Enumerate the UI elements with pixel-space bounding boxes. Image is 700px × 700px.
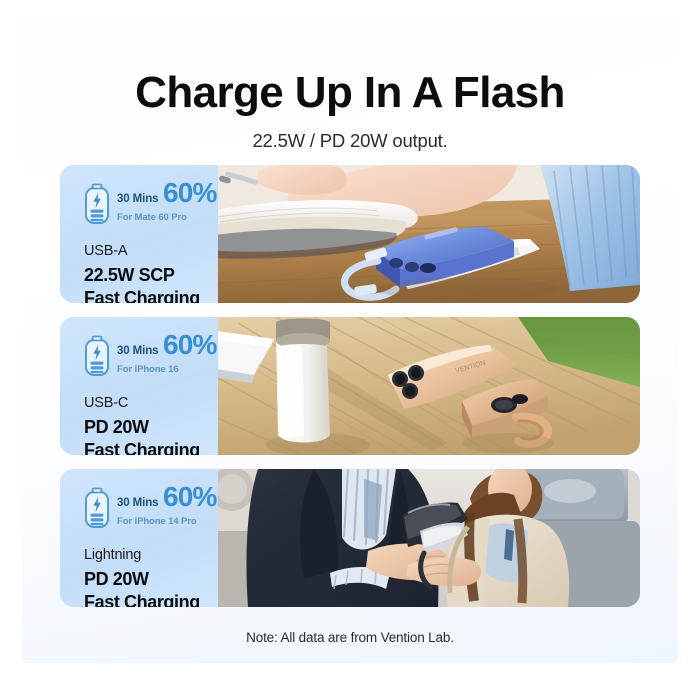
charge-percentage: 60%: [163, 177, 217, 208]
battery-stat-text: 30 Mins 60% For iPhone 16: [117, 331, 218, 377]
charging-spec-row: 30 Mins 60% For iPhone 16 USB-C PD 20W F…: [60, 317, 640, 455]
photo-outdoor-deck-gold-power-bank: VENTION: [218, 317, 640, 455]
spec-title: PD 20W Fast Charging: [84, 568, 218, 607]
page-title: Charge Up In A Flash: [22, 18, 678, 116]
charging-spec-row: 30 Mins 60% For iPhone 14 Pro Lightning …: [60, 469, 640, 607]
spec-info-card: 30 Mins 60% For Mate 60 Pro USB-A 22.5W …: [60, 165, 218, 303]
charge-device-label: For Mate 60 Pro: [117, 212, 187, 223]
battery-stat: 30 Mins 60% For iPhone 14 Pro: [84, 485, 218, 534]
spec-mode: Fast Charging: [84, 591, 218, 607]
charge-percentage: 60%: [163, 329, 217, 360]
spec-power: PD 20W: [84, 569, 149, 589]
battery-stat-text: 30 Mins 60% For iPhone 14 Pro: [117, 483, 218, 529]
spec-mode: Fast Charging: [84, 439, 218, 455]
port-type-label: USB-C: [84, 395, 218, 411]
charging-spec-row: 30 Mins 60% For Mate 60 Pro USB-A 22.5W …: [60, 165, 640, 303]
spec-title: PD 20W Fast Charging: [84, 416, 218, 455]
charge-percentage: 60%: [163, 481, 217, 512]
port-type-label: Lightning: [84, 547, 218, 563]
battery-charging-icon: [84, 487, 110, 534]
photo-desk-study-blue-power-bank: [218, 165, 640, 303]
spec-power: 22.5W SCP: [84, 265, 174, 285]
product-feature-graphic: Charge Up In A Flash 22.5W / PD 20W outp…: [0, 0, 700, 700]
battery-charging-icon: [84, 335, 110, 382]
charge-duration: 30 Mins: [117, 497, 158, 509]
charge-duration: 30 Mins: [117, 345, 158, 357]
footer-note: Note: All data are from Vention Lab.: [60, 630, 640, 645]
battery-stat-text: 30 Mins 60% For Mate 60 Pro: [117, 179, 218, 225]
spec-info-card: 30 Mins 60% For iPhone 16 USB-C PD 20W F…: [60, 317, 218, 455]
charge-device-label: For iPhone 14 Pro: [117, 516, 197, 527]
battery-stat: 30 Mins 60% For Mate 60 Pro: [84, 181, 218, 230]
battery-charging-icon: [84, 183, 110, 230]
spec-title: 22.5W SCP Fast Charging: [84, 264, 218, 303]
battery-stat: 30 Mins 60% For iPhone 16: [84, 333, 218, 382]
photo-train-commuter-phone: [218, 469, 640, 607]
spec-mode: Fast Charging: [84, 287, 218, 303]
content-panel: Charge Up In A Flash 22.5W / PD 20W outp…: [22, 18, 678, 663]
header: Charge Up In A Flash 22.5W / PD 20W outp…: [22, 18, 678, 152]
charge-device-label: For iPhone 16: [117, 364, 179, 375]
page-subtitle: 22.5W / PD 20W output.: [22, 116, 678, 152]
spec-info-card: 30 Mins 60% For iPhone 14 Pro Lightning …: [60, 469, 218, 607]
port-type-label: USB-A: [84, 243, 218, 259]
charge-duration: 30 Mins: [117, 193, 158, 205]
spec-power: PD 20W: [84, 417, 149, 437]
charging-spec-rows: 30 Mins 60% For Mate 60 Pro USB-A 22.5W …: [60, 165, 640, 607]
